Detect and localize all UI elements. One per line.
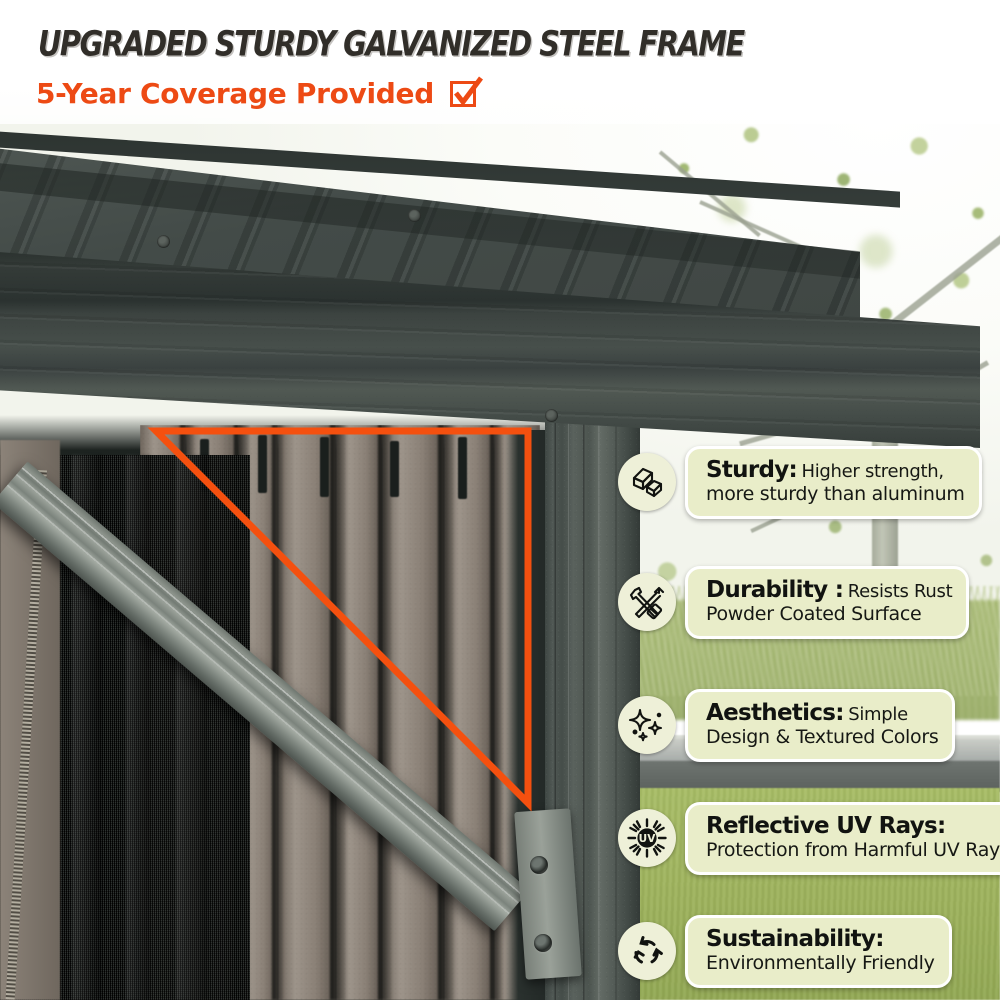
fascia-screw xyxy=(545,409,558,422)
feature-row-sturdy[interactable]: Sturdy: Higher strength, more sturdy tha… xyxy=(618,446,982,519)
feature-body-2: Powder Coated Surface xyxy=(706,603,921,625)
feature-list: Sturdy: Higher strength, more sturdy tha… xyxy=(618,440,1000,1000)
page-title: UPGRADED STURDY GALVANIZED STEEL FRAME xyxy=(38,24,744,64)
feature-body-2: more sturdy than aluminum xyxy=(706,483,965,505)
uv-sun-icon: UV xyxy=(618,809,676,867)
feature-body-2: Protection from Harmful UV Rays xyxy=(706,839,1000,861)
feature-card-durability: Durability : Resists Rust Powder Coated … xyxy=(685,566,969,639)
feature-title: Sustainability: xyxy=(706,926,884,952)
feature-title: Durability : xyxy=(706,577,843,603)
feature-title: Sturdy: xyxy=(706,457,797,483)
roof-screw xyxy=(157,235,170,248)
checkbox-checked-icon xyxy=(448,76,482,110)
feature-body-2: Environmentally Friendly xyxy=(706,952,935,974)
highlight-triangle xyxy=(150,425,550,815)
feature-row-sustainability[interactable]: Sustainability: Environmentally Friendly xyxy=(618,915,952,988)
feature-body-1: Simple xyxy=(848,704,908,725)
sparkle-icon xyxy=(618,696,676,754)
feature-title: Aesthetics: xyxy=(706,700,844,726)
coverage-callout: 5-Year Coverage Provided xyxy=(36,76,482,110)
feature-body-1: Higher strength, xyxy=(801,461,943,482)
brace-bolt xyxy=(530,856,548,874)
wrench-screwdriver-icon xyxy=(618,573,676,631)
brace-mounting-plate xyxy=(514,808,582,979)
feature-title: Reflective UV Rays: xyxy=(706,813,946,839)
steel-bars-icon xyxy=(618,453,676,511)
feature-row-aesthetics[interactable]: Aesthetics: Simple Design & Textured Col… xyxy=(618,689,955,762)
recycle-icon xyxy=(618,922,676,980)
coverage-label: 5-Year Coverage Provided xyxy=(36,77,434,110)
feature-body-2: Design & Textured Colors xyxy=(706,726,938,748)
feature-card-sustainability: Sustainability: Environmentally Friendly xyxy=(685,915,952,988)
feature-card-sturdy: Sturdy: Higher strength, more sturdy tha… xyxy=(685,446,982,519)
brace-bolt xyxy=(534,934,552,952)
feature-row-uv[interactable]: UV Reflective UV Rays: Protection from H… xyxy=(618,802,1000,875)
roof-screw xyxy=(408,209,421,222)
feature-body-1: Resists Rust xyxy=(848,581,953,602)
product-infographic: UPGRADED STURDY GALVANIZED STEEL FRAME 5… xyxy=(0,0,1000,1000)
feature-card-uv: Reflective UV Rays: Protection from Harm… xyxy=(685,802,1000,875)
svg-text:UV: UV xyxy=(639,834,657,846)
feature-card-aesthetics: Aesthetics: Simple Design & Textured Col… xyxy=(685,689,955,762)
feature-row-durability[interactable]: Durability : Resists Rust Powder Coated … xyxy=(618,566,969,639)
